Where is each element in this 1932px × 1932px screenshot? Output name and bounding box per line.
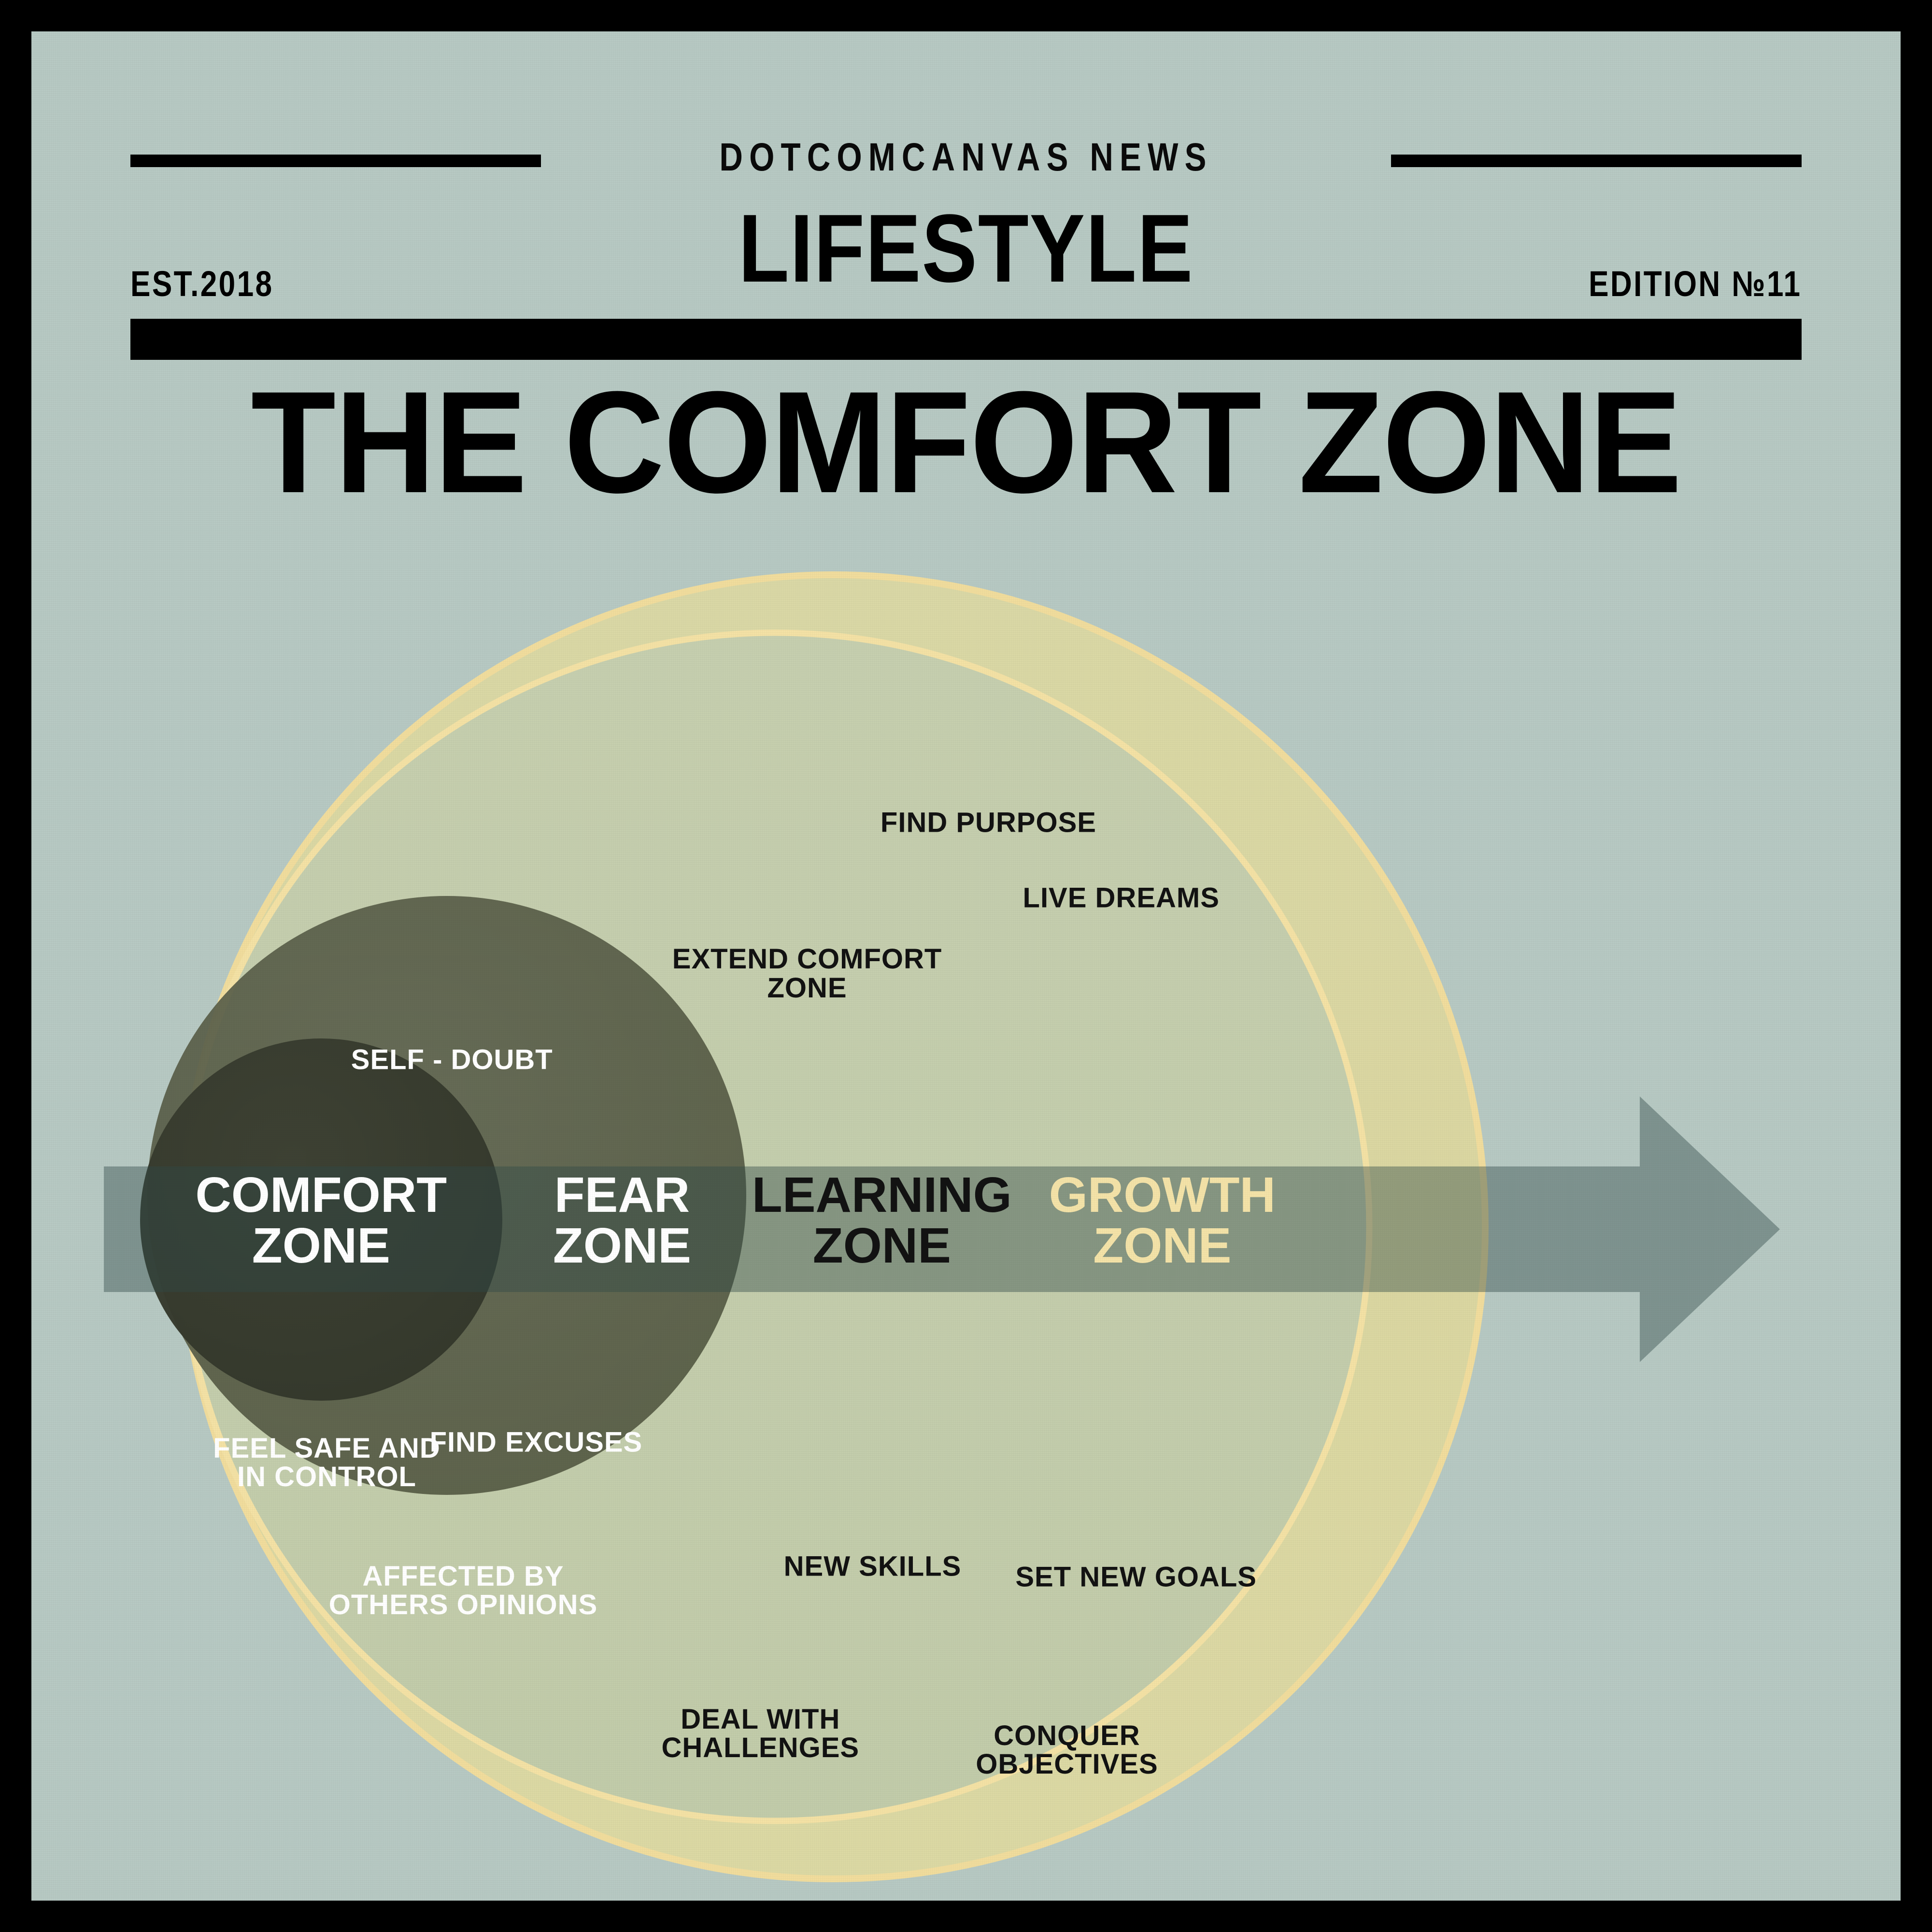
zone-label-fear-line1: FEAR: [553, 1169, 691, 1220]
annotation-line2: ZONE: [672, 973, 942, 1002]
annotation-line1: AFFECTED BY: [329, 1562, 597, 1591]
annotation-line1: CONQUER: [976, 1721, 1158, 1749]
zone-label-learning-line1: LEARNING: [752, 1169, 1012, 1220]
annotation-line1: SELF - DOUBT: [351, 1045, 553, 1074]
annotation-extend-comfort-zone: EXTEND COMFORT ZONE: [672, 945, 942, 1002]
annotation-line1: FIND PURPOSE: [881, 808, 1096, 837]
annotation-line2: CHALLENGES: [662, 1733, 860, 1762]
zone-label-comfort-line2: ZONE: [196, 1220, 447, 1271]
masthead-edition: EDITION №11: [1589, 263, 1802, 304]
masthead-divider-bar: [130, 319, 1802, 360]
annotation-line1: DEAL WITH: [662, 1705, 860, 1733]
annotation-line1: FIND EXCUSES: [430, 1428, 643, 1457]
annotation-line1: LIVE DREAMS: [1023, 884, 1220, 912]
annotation-line2: OTHERS OPINIONS: [329, 1591, 597, 1619]
annotation-new-skills: NEW SKILLS: [784, 1552, 962, 1581]
annotation-find-excuses: FIND EXCUSES: [430, 1428, 643, 1457]
page-title: THE COMFORT ZONE: [69, 369, 1863, 514]
annotation-line2: OBJECTIVES: [976, 1750, 1158, 1778]
annotation-feel-safe-and-in-control: FEEL SAFE AND IN CONTROL: [213, 1434, 440, 1491]
annotation-line1: SET NEW GOALS: [1015, 1563, 1257, 1591]
poster-root: DOTCOMCANVAS NEWS LIFESTYLE EST.2018 EDI…: [0, 0, 1932, 1932]
masthead-established: EST.2018: [130, 263, 273, 304]
masthead-kicker: DOTCOMCANVAS NEWS: [199, 135, 1732, 180]
annotation-deal-with-challenges: DEAL WITH CHALLENGES: [662, 1705, 860, 1762]
zone-label-fear: FEAR ZONE: [553, 1169, 691, 1271]
zone-label-comfort: COMFORT ZONE: [196, 1169, 447, 1271]
zone-label-growth-line1: GROWTH: [1049, 1169, 1276, 1220]
zone-label-comfort-line1: COMFORT: [196, 1169, 447, 1220]
annotation-conquer-objectives: CONQUER OBJECTIVES: [976, 1721, 1158, 1778]
zone-label-learning: LEARNING ZONE: [752, 1169, 1012, 1271]
annotation-self-doubt: SELF - DOUBT: [351, 1045, 553, 1074]
annotation-line2: IN CONTROL: [213, 1463, 440, 1491]
masthead-section: LIFESTYLE: [162, 200, 1770, 297]
annotation-line1: EXTEND COMFORT: [672, 945, 942, 973]
zone-label-learning-line2: ZONE: [752, 1220, 1012, 1271]
annotation-find-purpose: FIND PURPOSE: [881, 808, 1096, 837]
comfort-zone-diagram: COMFORT ZONE FEAR ZONE LEARNING ZONE GRO…: [31, 553, 1901, 1901]
annotation-set-new-goals: SET NEW GOALS: [1015, 1563, 1257, 1591]
zone-label-fear-line2: ZONE: [553, 1220, 691, 1271]
zone-label-growth-line2: ZONE: [1049, 1220, 1276, 1271]
zone-label-growth: GROWTH ZONE: [1049, 1169, 1276, 1271]
annotation-live-dreams: LIVE DREAMS: [1023, 884, 1220, 912]
annotation-affected-by-others-opinions: AFFECTED BY OTHERS OPINIONS: [329, 1562, 597, 1619]
annotation-line1: NEW SKILLS: [784, 1552, 962, 1581]
poster-canvas: DOTCOMCANVAS NEWS LIFESTYLE EST.2018 EDI…: [31, 31, 1901, 1901]
annotation-line1: FEEL SAFE AND: [213, 1434, 440, 1463]
